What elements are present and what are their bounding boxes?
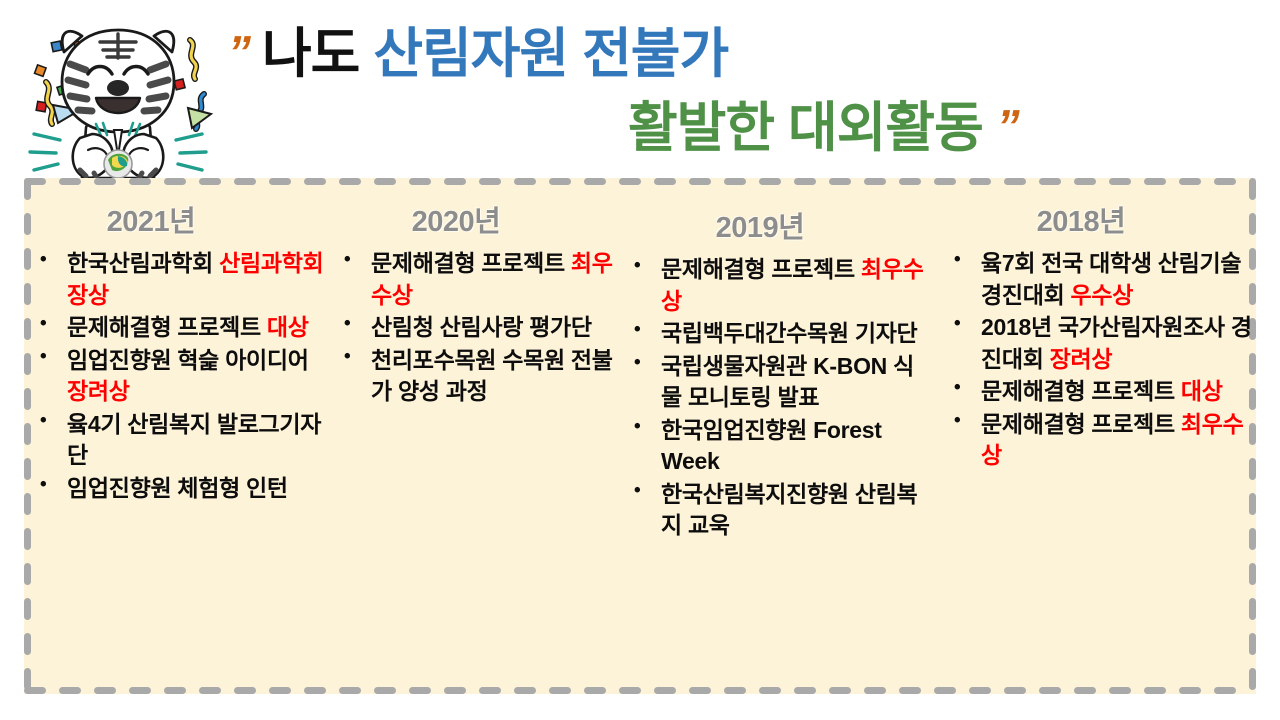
title-text-black: 나도 (262, 24, 359, 84)
achievement-list: 한국산림과학회 산림과학회장상문제해결형 프로젝트 대상임업진향원 혁슱 아이디… (34, 248, 324, 504)
column-2019: 2019년 문제해결형 프로젝트 최우수상국립백두대간수목원 기자단국립생물자원… (614, 178, 934, 694)
achievement-text: 천리포수목원 수목원 전불가 양성 과정 (371, 347, 613, 405)
achievement-item: 임업진향원 혁슱 아이디어 장려상 (34, 345, 324, 408)
achievement-item: 국립백두대간수목원 기자단 (628, 318, 934, 350)
column-year-heading: 2018년 (948, 198, 1256, 240)
achievement-text: 한국임업진향원 Forest Week (661, 417, 882, 475)
award-highlight: 대상 (1181, 378, 1223, 404)
slide-title: ”나도 산림자원 전불가 활발한 대외활동” (228, 14, 1188, 174)
achievement-list: 문제해결형 프로젝트 최우수상산림청 산림사랑 평가단천리포수목원 수목원 전불… (338, 248, 614, 408)
title-line-2: 활발한 대외활동” (628, 100, 1017, 157)
slide-header: ”나도 산림자원 전불가 활발한 대외활동” (0, 0, 1280, 178)
achievement-text: 산림청 산림사랑 평가단 (371, 314, 592, 340)
achievement-item: 한국임업진향원 Forest Week (628, 415, 934, 478)
achievement-text: 문제해결형 프로젝트 (981, 378, 1181, 404)
achievement-text: 한국산림복지진향원 산림복지 교욱 (661, 481, 917, 539)
award-highlight: 장려상 (67, 378, 130, 404)
achievement-item: 한국산림과학회 산림과학회장상 (34, 248, 324, 311)
column-2018: 2018년 윸7회 전국 대학생 산림기술 경진대회 우수상2018년 국가산림… (934, 178, 1256, 694)
clapping-tiger-mascot-icon (8, 10, 228, 185)
achievement-item: 천리포수목원 수목원 전불가 양성 과정 (338, 345, 614, 408)
achievement-item: 문제해결형 프로젝트 최우수상 (338, 248, 614, 311)
achievement-text: 윸4기 산림복지 발로그기자단 (67, 411, 321, 469)
achievement-item: 2018년 국가산림자원조사 경진대회 장려상 (948, 312, 1256, 375)
column-year-heading: 2020년 (338, 198, 614, 240)
achievement-item: 윸7회 전국 대학생 산림기술 경진대회 우수상 (948, 248, 1256, 311)
title-text-blue: 산림자원 전불가 (373, 24, 728, 84)
column-2021: 2021년 한국산림과학회 산림과학회장상문제해결형 프로젝트 대상임업진향원 … (24, 178, 324, 694)
achievement-text: 문제해결형 프로젝트 (371, 250, 571, 276)
achievement-text: 문제해결형 프로젝트 (981, 411, 1181, 437)
award-highlight: 장려상 (1050, 346, 1113, 372)
achievement-item: 문제해결형 프로젝트 대상 (948, 376, 1256, 408)
achievement-text: 국립백두대간수목원 기자단 (661, 320, 917, 346)
title-text-green: 활발한 대외활동 (628, 98, 983, 158)
achievement-item: 문제해결형 프로젝트 대상 (34, 312, 324, 344)
achievement-item: 문제해결형 프로젝트 최우수상 (628, 254, 934, 317)
achievement-text: 국립생물자원관 K-BON 식물 모니토링 발표 (661, 353, 914, 411)
achievement-list: 윸7회 전국 대학생 산림기술 경진대회 우수상2018년 국가산림자원조사 경… (948, 248, 1256, 472)
achievement-text: 문제해결형 프로젝트 (67, 314, 267, 340)
achievement-item: 산림청 산림사랑 평가단 (338, 312, 614, 344)
achievement-text: 임업진향원 체험형 인턴 (67, 475, 288, 501)
title-line-1: ”나도 산림자원 전불가 (228, 26, 728, 83)
column-year-heading: 2021년 (34, 198, 324, 240)
achievement-list: 문제해결형 프로젝트 최우수상국립백두대간수목원 기자단국립생물자원관 K-BO… (628, 254, 934, 542)
achievement-text: 2018년 국가산림자원조사 경진대회 (981, 314, 1252, 372)
column-2020: 2020년 문제해결형 프로젝트 최우수상산림청 산림사랑 평가단천리포수목원 … (324, 178, 614, 694)
award-highlight: 대상 (267, 314, 309, 340)
achievement-text: 문제해결형 프로젝트 (661, 256, 861, 282)
open-quote-icon: ” (228, 28, 248, 77)
close-quote-icon: ” (997, 102, 1017, 151)
achievement-item: 국립생물자원관 K-BON 식물 모니토링 발표 (628, 351, 934, 414)
achievement-text: 한국산림과학회 (67, 250, 219, 276)
achievement-item: 윸4기 산림복지 발로그기자단 (34, 409, 324, 472)
column-year-heading: 2019년 (628, 204, 934, 246)
award-highlight: 우수상 (1071, 282, 1134, 308)
achievement-item: 한국산림복지진향원 산림복지 교욱 (628, 479, 934, 542)
achievement-item: 임업진향원 체험형 인턴 (34, 473, 324, 505)
achievement-item: 문제해결형 프로젝트 최우수상 (948, 409, 1256, 472)
achievement-text: 임업진향원 혁슱 아이디어 (67, 347, 309, 373)
achievements-columns: 2021년 한국산림과학회 산림과학회장상문제해결형 프로젝트 대상임업진향원 … (24, 178, 1256, 694)
